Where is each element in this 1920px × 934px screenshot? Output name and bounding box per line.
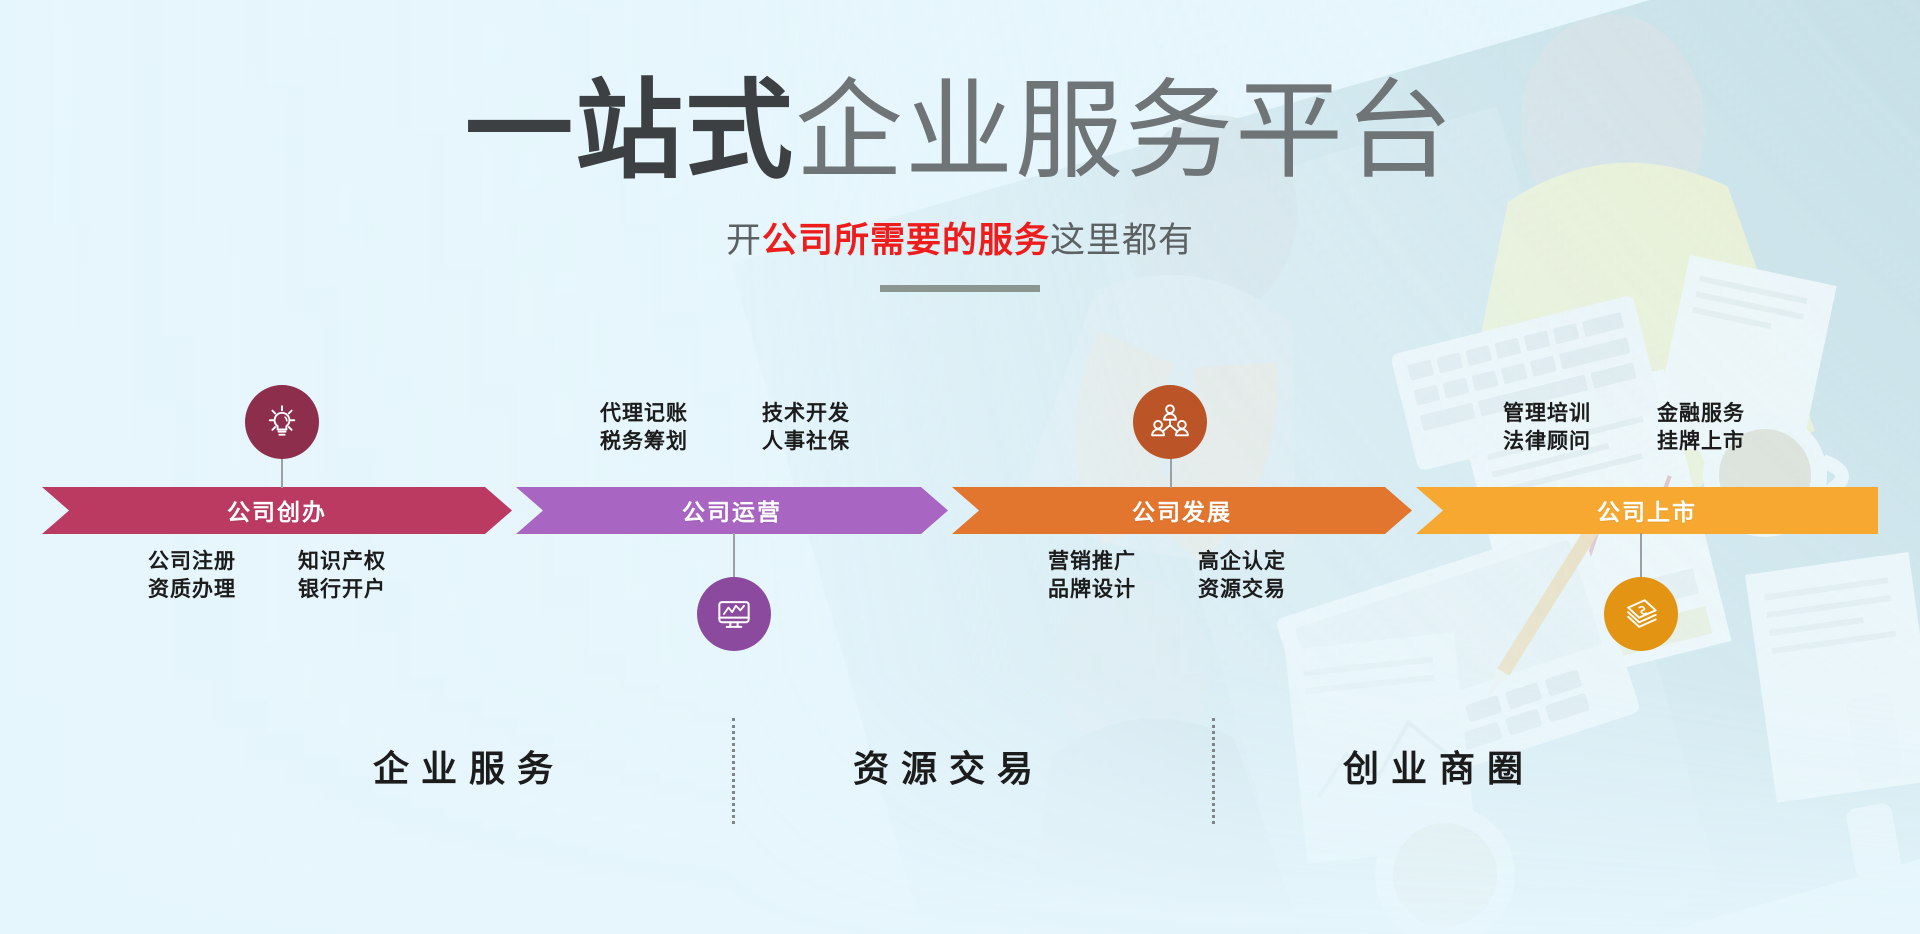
subtitle-suffix: 这里都有 (1050, 221, 1194, 261)
category-divider-1 (1212, 718, 1215, 824)
labels-stage-0-group-1: 知识产权 银行开户 (298, 548, 386, 603)
category-divider-0 (732, 718, 735, 824)
title-divider (880, 285, 1040, 292)
subtitle-prefix: 开 (726, 221, 762, 261)
badge-stage-2[interactable] (1133, 385, 1207, 459)
label-line-2: 税务筹划 (600, 428, 688, 456)
label-line-1: 金融服务 (1657, 401, 1745, 425)
label-line-2: 挂牌上市 (1657, 428, 1745, 456)
label-line-2: 资质办理 (148, 576, 236, 604)
label-line-1: 公司注册 (148, 549, 236, 573)
label-line-2: 资源交易 (1198, 576, 1286, 604)
labels-stage-2-group-1: 高企认定 资源交易 (1198, 548, 1286, 603)
timeline-stage-3-label: 公司上市 (1597, 493, 1697, 527)
badge-stage-1[interactable] (697, 577, 771, 651)
stem-stage-1 (733, 533, 735, 577)
poster-canvas: 一站式企业服务平台 开公司所需要的服务这里都有 公司创办 公司运营 公司发展 公… (0, 0, 1920, 934)
page-title-light: 企业服务平台 (795, 69, 1455, 194)
label-line-1: 知识产权 (298, 549, 386, 573)
page-title-strong: 一站式 (465, 69, 795, 194)
labels-stage-1-group-0: 代理记账 税务筹划 (600, 400, 688, 455)
monitor-chart-icon (712, 592, 756, 636)
label-line-1: 高企认定 (1198, 549, 1286, 573)
labels-stage-3-group-1: 金融服务 挂牌上市 (1657, 400, 1745, 455)
timeline-stage-2-label: 公司发展 (1132, 493, 1232, 527)
category-bar: 企业服务 资源交易 创业商圈 (0, 740, 1920, 820)
header: 一站式企业服务平台 开公司所需要的服务这里都有 (0, 0, 1920, 292)
timeline-stage-0[interactable]: 公司创办 (42, 487, 512, 534)
labels-stage-1-group-1: 技术开发 人事社保 (762, 400, 850, 455)
timeline-stage-3[interactable]: 公司上市 (1416, 487, 1878, 534)
timeline-bar: 公司创办 公司运营 公司发展 公司上市 (0, 487, 1920, 534)
category-item-2[interactable]: 创业商圈 (1343, 740, 1535, 792)
label-line-1: 营销推广 (1048, 549, 1136, 573)
label-line-1: 管理培训 (1503, 401, 1591, 425)
timeline-stage-0-label: 公司创办 (227, 493, 327, 527)
label-line-2: 人事社保 (762, 428, 850, 456)
timeline-stage-1-label: 公司运营 (682, 493, 782, 527)
badge-stage-0[interactable] (245, 385, 319, 459)
label-line-1: 技术开发 (762, 401, 850, 425)
lightbulb-icon (261, 401, 303, 443)
label-line-2: 法律顾问 (1503, 428, 1591, 456)
subtitle-highlight: 公司所需要的服务 (762, 221, 1050, 261)
label-line-2: 品牌设计 (1048, 576, 1136, 604)
page-subtitle: 开公司所需要的服务这里都有 (0, 212, 1920, 263)
label-line-2: 银行开户 (298, 576, 386, 604)
labels-stage-0-group-0: 公司注册 资质办理 (148, 548, 236, 603)
money-stack-icon (1619, 592, 1663, 636)
page-title: 一站式企业服务平台 (0, 78, 1920, 186)
timeline-stage-2[interactable]: 公司发展 (952, 487, 1412, 534)
category-item-1[interactable]: 资源交易 (853, 740, 1045, 792)
label-line-1: 代理记账 (600, 401, 688, 425)
stem-stage-3 (1640, 533, 1642, 577)
badge-stage-3[interactable] (1604, 577, 1678, 651)
people-network-icon (1148, 400, 1192, 444)
category-item-0[interactable]: 企业服务 (373, 740, 565, 792)
labels-stage-3-group-0: 管理培训 法律顾问 (1503, 400, 1591, 455)
labels-stage-2-group-0: 营销推广 品牌设计 (1048, 548, 1136, 603)
timeline-stage-1[interactable]: 公司运营 (516, 487, 948, 534)
